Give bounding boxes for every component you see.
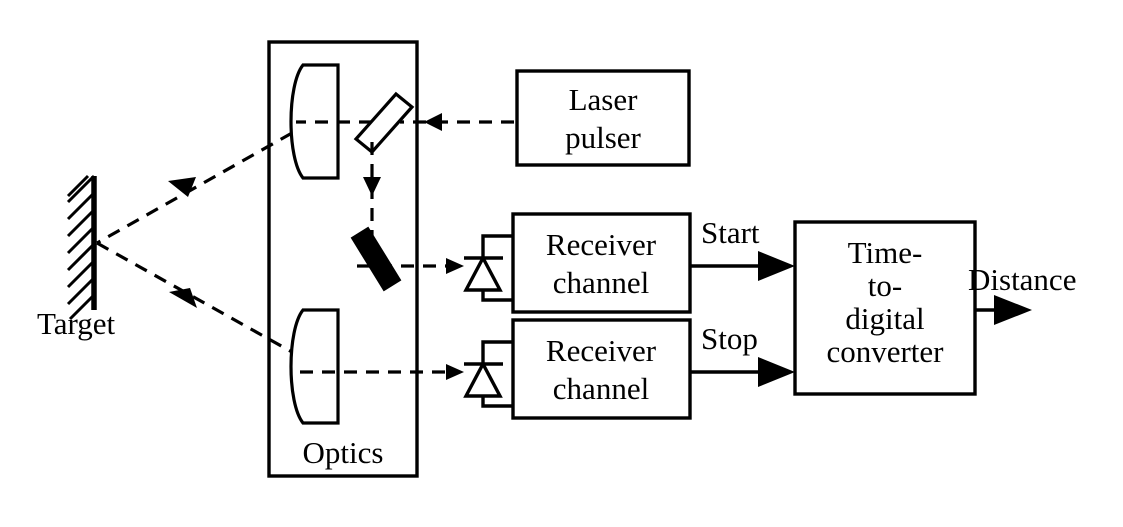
receive-lens — [291, 310, 338, 423]
laser-pulser-label-line1: Laser — [569, 82, 639, 117]
photodiode-start — [464, 236, 513, 300]
tdc-label-line3: digital — [845, 301, 924, 336]
beam-transmit-lens-to-target — [97, 133, 292, 243]
photodiode-start-top-wire — [483, 236, 513, 258]
beam-start-arrowhead — [446, 258, 464, 274]
beam-transmit-arrowhead — [168, 177, 196, 197]
photodiode-stop — [464, 342, 513, 406]
target-label: Target — [37, 306, 116, 341]
tdc-label-line4: converter — [826, 334, 944, 369]
beam-target-to-receive-lens — [97, 243, 292, 352]
rangefinder-diagram-canvas: Target Optics — [0, 0, 1123, 527]
optics-label: Optics — [303, 435, 384, 470]
start-signal-arrowhead — [758, 251, 795, 281]
beam-receive-arrowhead — [169, 288, 197, 308]
laser-pulser-label-line2: pulser — [565, 120, 641, 155]
tdc-label-line1: Time- — [848, 235, 923, 270]
target-surface — [68, 176, 94, 319]
photodiode-stop-triangle — [466, 364, 500, 396]
start-signal-label: Start — [701, 215, 760, 250]
reference-mirror — [352, 228, 400, 290]
target-hatching — [68, 176, 94, 319]
photodiode-start-triangle — [466, 258, 500, 290]
distance-output-arrowhead — [994, 295, 1032, 325]
beam-laser-arrowhead — [424, 113, 442, 131]
stop-signal-label: Stop — [701, 321, 758, 356]
beam-downward-arrowhead — [363, 177, 381, 196]
photodiode-stop-top-wire — [483, 342, 513, 364]
receiver-top-label-line2: channel — [553, 265, 649, 300]
beam-stop-arrowhead — [446, 364, 464, 380]
distance-output-label: Distance — [968, 262, 1076, 297]
receiver-bottom-label-line1: Receiver — [546, 333, 657, 368]
receiver-bottom-label-line2: channel — [553, 371, 649, 406]
stop-signal-arrowhead — [758, 357, 795, 387]
tdc-label-line2: to- — [868, 268, 902, 303]
receiver-top-label-line1: Receiver — [546, 227, 657, 262]
diagram-root: Target Optics — [0, 0, 1123, 527]
